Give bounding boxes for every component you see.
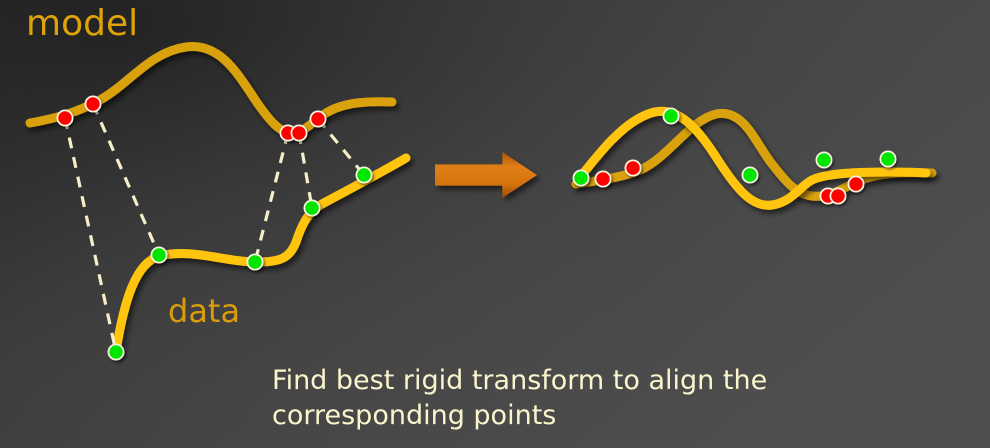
model-point [57,110,72,125]
data-point [663,108,678,123]
model-point [595,171,610,186]
transform-arrow [435,152,537,198]
panel-after-alignment [573,108,932,205]
model-point [830,188,845,203]
correspondence-line [299,133,312,208]
model-point [625,160,640,175]
data-point [108,344,123,359]
arrow-shape [435,152,537,198]
model-point [310,111,325,126]
correspondence-line [318,119,364,175]
curves [576,111,932,205]
data-point [247,254,262,269]
data-point [151,247,166,262]
data-point [816,152,831,167]
caption-text: Find best rigid transform to align the c… [272,364,767,433]
data-point [573,170,588,185]
model-point [291,125,306,140]
data-point [742,167,757,182]
correspondence-line [255,133,288,262]
model-label: model [26,6,138,42]
correspondence-line [65,118,116,352]
data-point [880,151,895,166]
data-curve [578,111,926,205]
slide-canvas: model data Find best rigid transform to … [0,0,990,448]
data-point [356,167,371,182]
data-point [304,200,319,215]
model-curve [30,47,392,133]
data-label: data [168,295,240,327]
correspondence-line [93,104,159,255]
model-point [85,96,100,111]
model-point [848,176,863,191]
